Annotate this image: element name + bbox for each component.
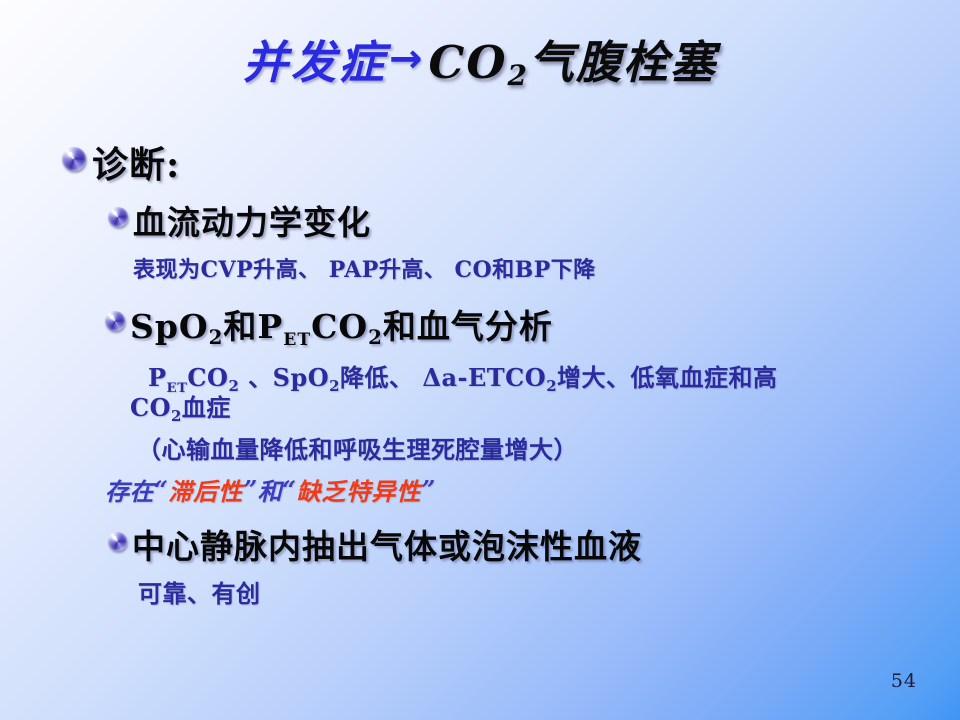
swirl-bullet-icon (108, 207, 128, 227)
page-number: 54 (891, 670, 917, 692)
title-formula-post: 气腹栓塞 (529, 36, 717, 89)
bg-d2-sub-a: 2 (171, 407, 182, 425)
title-formula-pre: CO (429, 36, 508, 89)
title-chinese-text: 并发症 (243, 36, 387, 89)
quote-close-1: ” (243, 475, 257, 504)
title-formula: CO2气腹栓塞 (429, 36, 717, 89)
bg-d1-sub-d: 2 (546, 377, 557, 395)
blood-gas-detail-line1-text: PETCO2 、SpO2降低、 Δa-ETCO2增大、低氧血症和高 (148, 363, 778, 392)
blood-gas-parenthetical-text: （心输血量降低和呼吸生理死腔量增大） (137, 435, 578, 464)
slide-title: 并发症→CO2气腹栓塞 (0, 26, 960, 91)
aspiration-detail-text: 可靠、有创 (138, 579, 261, 608)
quote-close-2: ” (421, 475, 435, 504)
blood-gas-detail-line2: CO2血症 (130, 388, 231, 423)
slide-canvas: 并发症→CO2气腹栓塞 诊断: 血流动力学变化 表现为CVP升高、 PAP升高、… (0, 0, 960, 720)
blood-gas-heading-s3: 2 (368, 325, 383, 349)
limitation-emphasis-2: 缺乏特异性 (296, 477, 421, 506)
limitation-prefix: 存在 (105, 477, 154, 506)
blood-gas-heading-s2: ET (283, 330, 311, 350)
aspiration-detail: 可靠、有创 (138, 574, 261, 609)
blood-gas-heading: SpO2和PETCO2和血气分析 (130, 307, 553, 346)
list-item-diagnosis: 诊断: (62, 136, 180, 188)
swirl-bullet-icon (105, 311, 125, 331)
list-item-blood-gas: SpO2和PETCO2和血气分析 (105, 300, 553, 348)
bg-d1-c: 、SpO (239, 363, 329, 392)
blood-gas-heading-p3: CO (311, 307, 368, 346)
list-item-aspiration: 中心静脉内抽出气体或泡沫性血液 (108, 520, 642, 568)
quote-open-1: “ (154, 475, 168, 504)
hemodynamics-heading: 血流动力学变化 (133, 203, 371, 242)
hemodynamics-detail: 表现为CVP升高、 PAP升高、 CO和BP下降 (133, 252, 596, 284)
diagnosis-label: 诊断: (92, 144, 180, 186)
limitation-emphasis-1: 滞后性 (168, 477, 243, 506)
limitation-conjunction: 和 (258, 477, 283, 506)
swirl-bullet-icon (108, 532, 127, 551)
swirl-bullet-icon (62, 147, 86, 171)
blood-gas-parenthetical: （心输血量降低和呼吸生理死腔量增大） (137, 430, 578, 465)
bg-d2-a: CO (130, 393, 171, 422)
blood-gas-heading-s1: 2 (209, 325, 224, 349)
bg-d1-sub-c: 2 (329, 377, 340, 395)
limitation-line: 存在“滞后性”和“缺乏特异性” (105, 472, 436, 507)
hemodynamics-detail-text: 表现为CVP升高、 PAP升高、 CO和BP下降 (133, 257, 596, 283)
quote-open-2: “ (282, 475, 296, 504)
blood-gas-heading-p4: 和血气分析 (383, 307, 553, 346)
bg-d2-b: 血症 (182, 393, 231, 422)
blood-gas-detail-line1: PETCO2 、SpO2降低、 Δa-ETCO2增大、低氧血症和高 (148, 358, 778, 393)
right-arrow-icon: → (387, 36, 429, 82)
bg-d1-d: 降低、 Δa-ETCO (340, 363, 546, 392)
aspiration-heading: 中心静脉内抽出气体或泡沫性血液 (132, 527, 642, 566)
bg-d1-e: 增大、低氧血症和高 (557, 363, 778, 392)
blood-gas-heading-p2: 和P (223, 307, 283, 346)
slide-body: 诊断: 血流动力学变化 表现为CVP升高、 PAP升高、 CO和BP下降 SpO… (0, 136, 960, 656)
blood-gas-detail-line2-text: CO2血症 (130, 393, 231, 422)
list-item-hemodynamics: 血流动力学变化 (108, 196, 371, 244)
blood-gas-heading-p1: SpO (130, 307, 209, 346)
title-formula-sub: 2 (508, 59, 529, 92)
